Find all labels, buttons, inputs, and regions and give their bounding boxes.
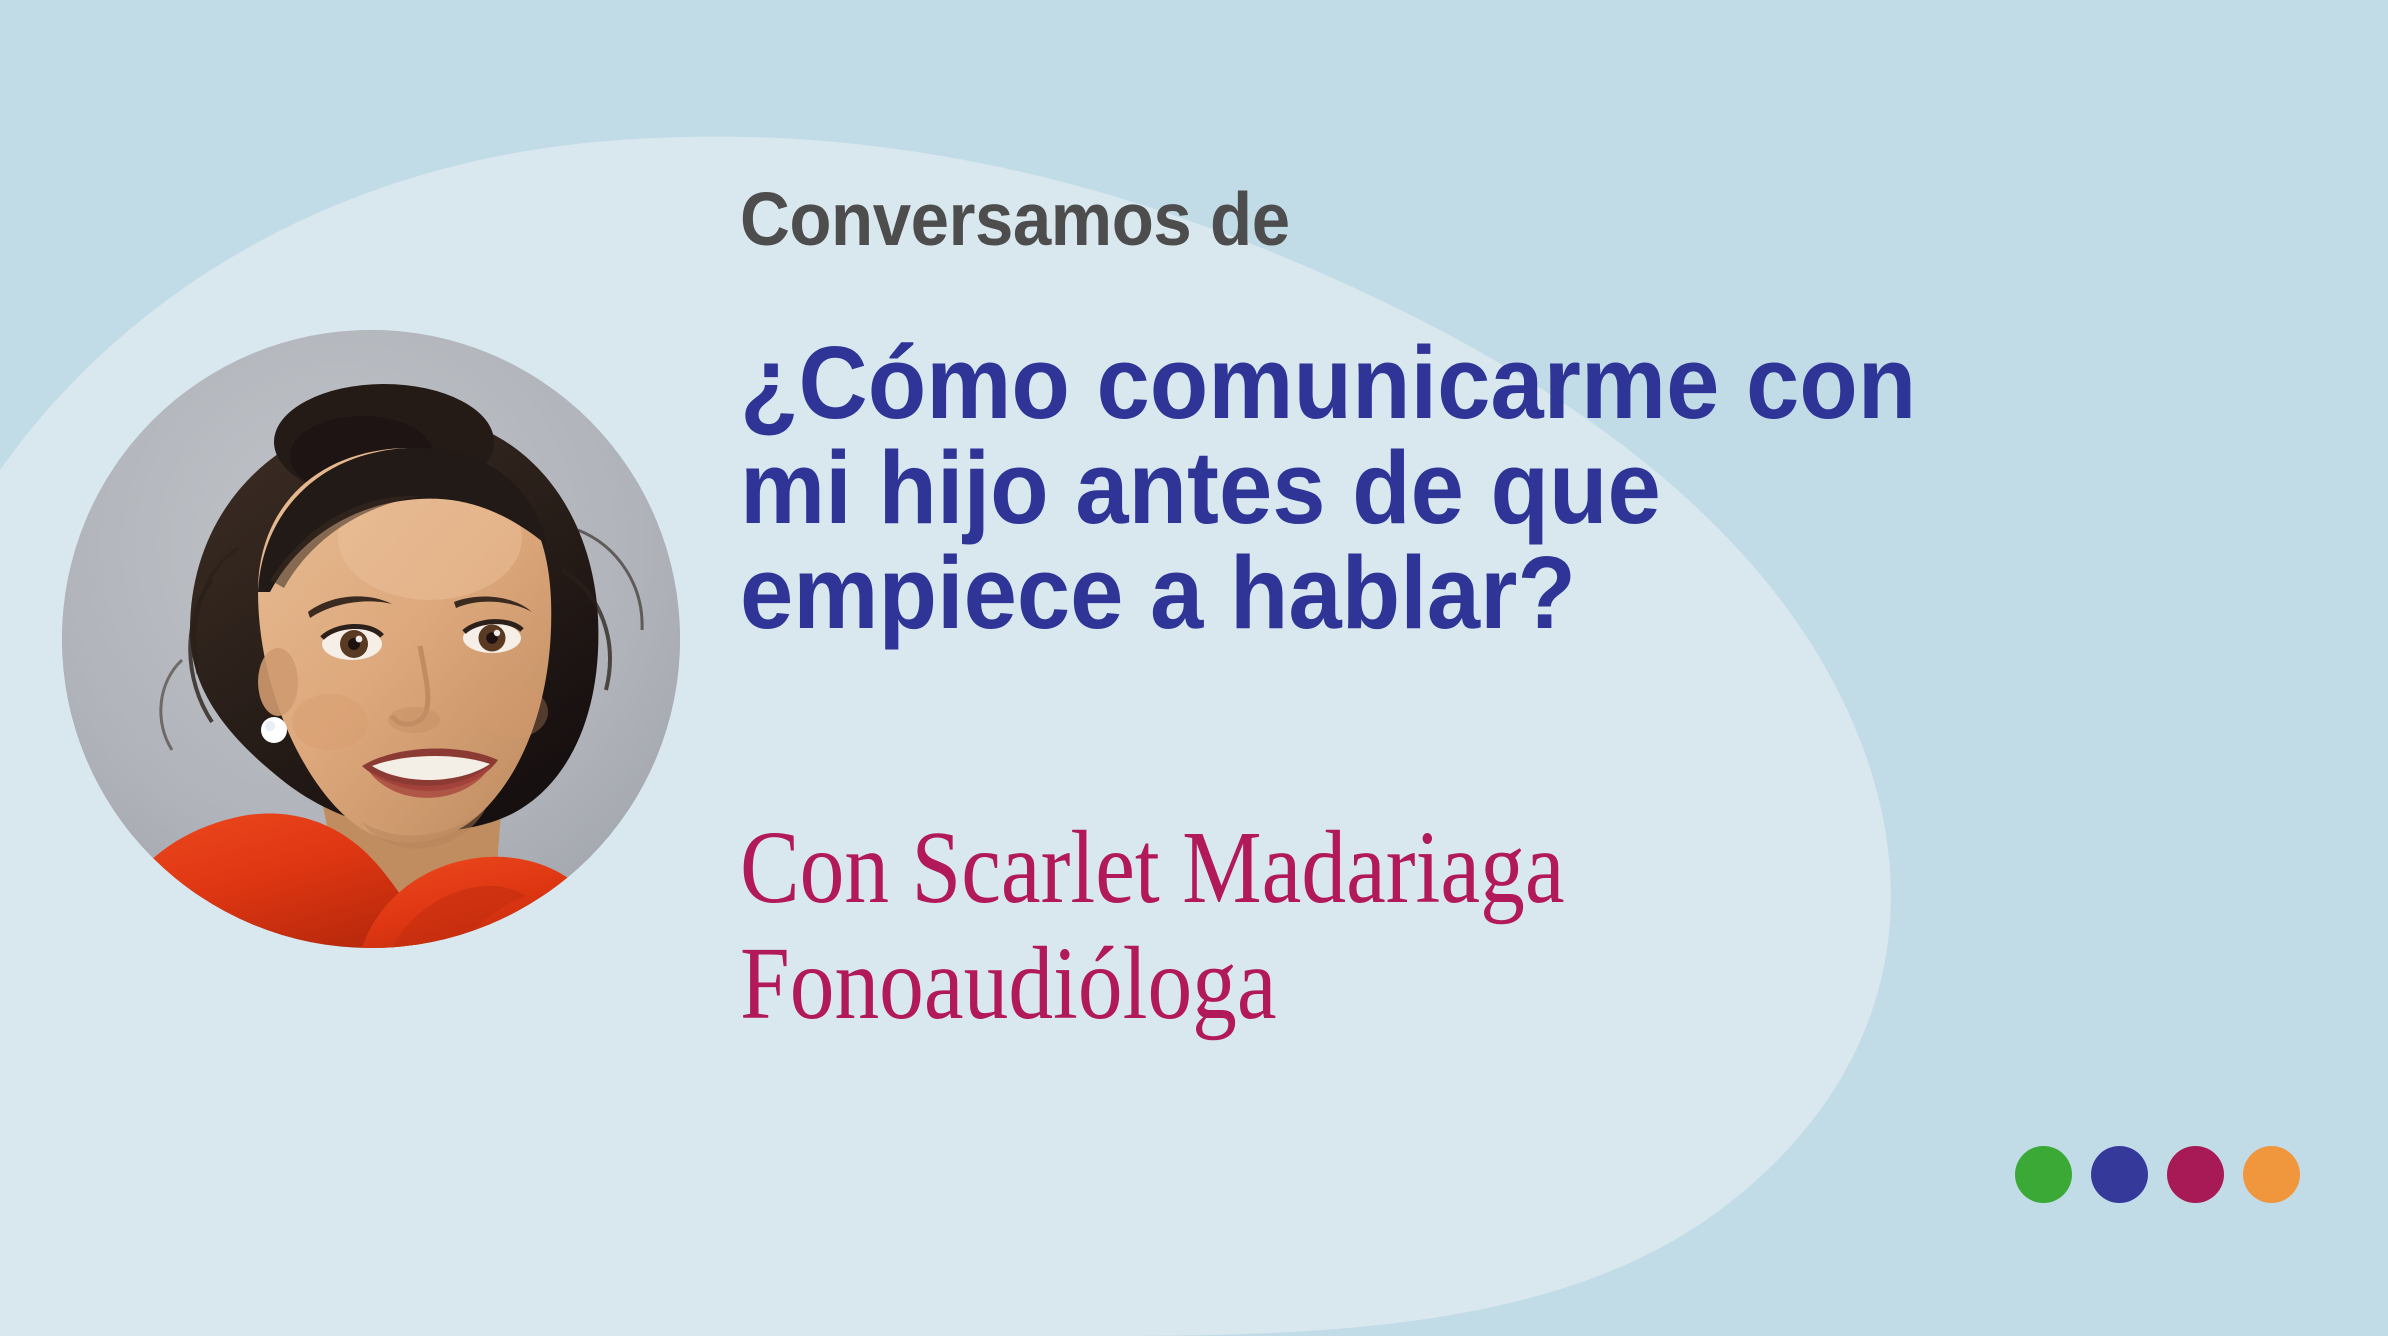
presenter-name: Con Scarlet Madariaga bbox=[740, 810, 1858, 926]
episode-title-line-1: ¿Cómo comunicarme con bbox=[740, 330, 1837, 435]
blue-dot bbox=[2091, 1146, 2148, 1203]
episode-title-line-3: empiece a hablar? bbox=[740, 540, 1837, 645]
episode-title-line-2: mi hijo antes de que bbox=[740, 435, 1837, 540]
podcast-episode-card: Conversamos de ¿Cómo comunicarme con mi … bbox=[0, 0, 2388, 1336]
brand-dots bbox=[2015, 1146, 2300, 1203]
eyebrow-label: Conversamos de bbox=[740, 176, 1290, 262]
episode-title: ¿Cómo comunicarme con mi hijo antes de q… bbox=[740, 330, 1837, 645]
presenter-credit: Con Scarlet Madariaga Fonoaudióloga bbox=[740, 810, 1858, 1043]
presenter-role: Fonoaudióloga bbox=[740, 926, 1858, 1042]
crimson-dot bbox=[2167, 1146, 2224, 1203]
host-portrait-photo bbox=[62, 330, 680, 948]
text-column: Conversamos de ¿Cómo comunicarme con mi … bbox=[740, 0, 2300, 1336]
green-dot bbox=[2015, 1146, 2072, 1203]
orange-dot bbox=[2243, 1146, 2300, 1203]
